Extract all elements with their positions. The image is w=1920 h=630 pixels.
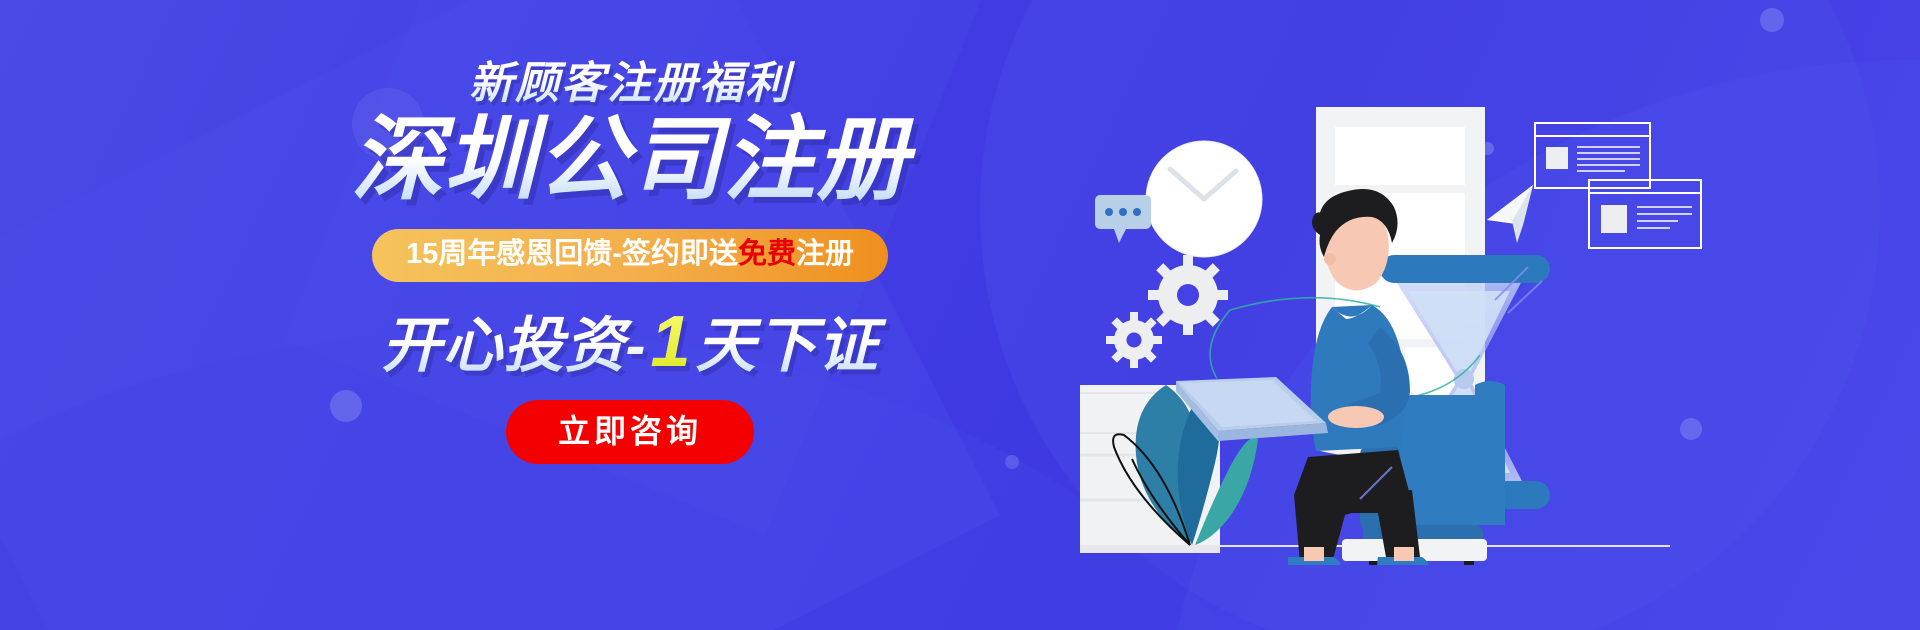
subheadline-number: 1 — [646, 302, 695, 382]
promo-pill-highlight: 免费 — [738, 238, 796, 270]
copy-block: 新顾客注册福利 深圳公司注册 15周年感恩回馈-签约即送免费注册 开心投资-1天… — [320, 52, 940, 464]
doc-lines-1 — [1577, 147, 1640, 171]
eyebrow-text: 新顾客注册福利 — [320, 52, 940, 106]
paper-plane-icon — [1487, 185, 1533, 243]
promo-pill-prefix: 15周年感恩回馈-签约即送 — [406, 238, 738, 270]
cta-wrapper: 立即咨询 — [320, 378, 940, 464]
promo-pill: 15周年感恩回馈-签约即送免费注册 — [372, 229, 888, 282]
subheadline: 开心投资-1天下证 — [320, 306, 940, 378]
doc-thumb-2 — [1601, 205, 1627, 233]
hero-illustration — [1080, 95, 1840, 565]
subheadline-suffix: 天下证 — [696, 312, 879, 379]
hourglass-cap-top — [1380, 255, 1550, 283]
promo-banner: 新顾客注册福利 深圳公司注册 15周年感恩回馈-签约即送免费注册 开心投资-1天… — [0, 0, 1920, 630]
doc-thumb-1 — [1546, 147, 1568, 169]
background-dot-7 — [1005, 455, 1019, 469]
promo-pill-suffix: 注册 — [796, 238, 854, 270]
subheadline-prefix: 开心投资- — [381, 312, 646, 379]
chat-bubble-icon — [1095, 195, 1151, 243]
promo-pill-wrapper: 15周年感恩回馈-签约即送免费注册 — [320, 223, 940, 282]
page-title: 深圳公司注册 — [320, 112, 940, 209]
doc-lines-2 — [1637, 207, 1692, 228]
background-dot-3 — [1760, 8, 1784, 32]
consult-now-button[interactable]: 立即咨询 — [506, 400, 754, 464]
wall-clock-icon — [1146, 141, 1262, 257]
